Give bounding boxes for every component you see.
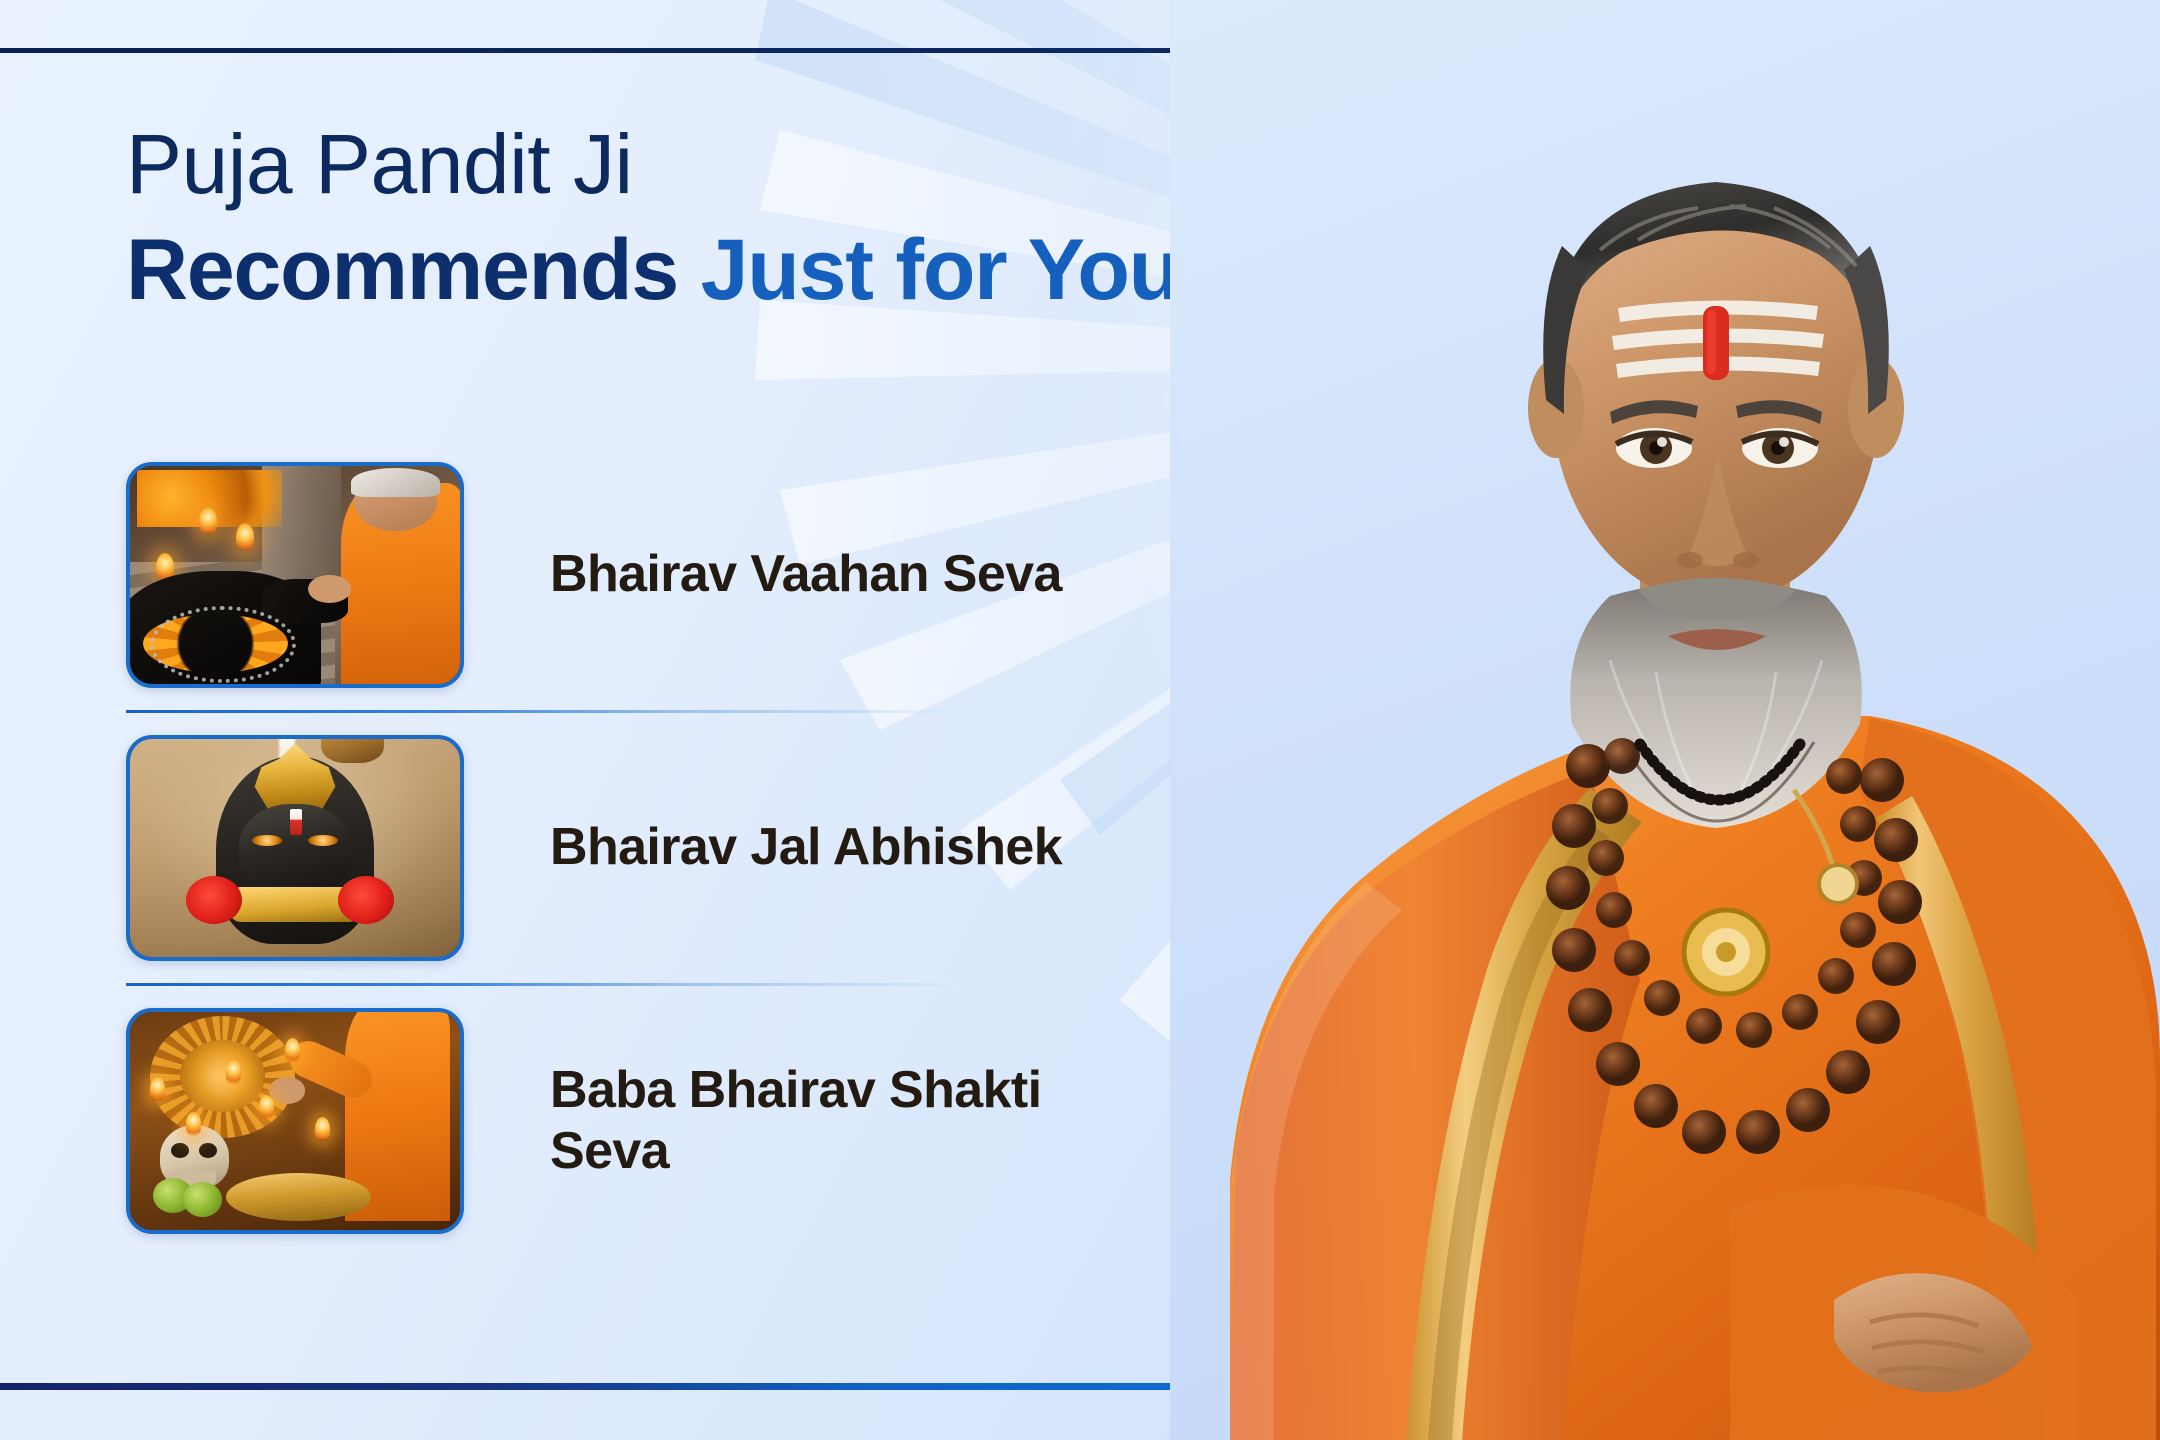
list-item-label: Bhairav Jal Abhishek — [550, 817, 1062, 878]
list-item[interactable]: Bhairav Vaahan Seva — [126, 466, 1126, 684]
list-item-label: Baba Bhairav Shakti Seva — [550, 1060, 1110, 1183]
thumbnail-image-3 — [130, 1012, 460, 1230]
thumbnail-image-1 — [130, 466, 460, 684]
list-divider — [126, 983, 964, 986]
recommendation-banner: Puja Pandit Ji Recommends Just for You B… — [0, 0, 2160, 1440]
thumbnail-baba-bhairav-shakti-seva[interactable] — [126, 1008, 464, 1234]
heading-word-recommends: Recommends — [126, 222, 678, 318]
thumbnail-bhairav-vaahan-seva[interactable] — [126, 462, 464, 688]
thumbnail-image-2 — [130, 739, 460, 957]
recommendation-list: Bhairav Vaahan Seva Bhairav Jal Abhishek — [126, 466, 1126, 1230]
list-item[interactable]: Bhairav Jal Abhishek — [126, 739, 1126, 957]
list-divider — [126, 710, 964, 713]
bottom-divider-rule — [0, 1383, 1205, 1390]
pandit-portrait — [1170, 0, 2160, 1440]
thumbnail-bhairav-jal-abhishek[interactable] — [126, 735, 464, 961]
heading-word-just-for-you: Just for You — [678, 222, 1180, 318]
list-item[interactable]: Baba Bhairav Shakti Seva — [126, 1012, 1126, 1230]
list-item-label: Bhairav Vaahan Seva — [550, 544, 1062, 605]
